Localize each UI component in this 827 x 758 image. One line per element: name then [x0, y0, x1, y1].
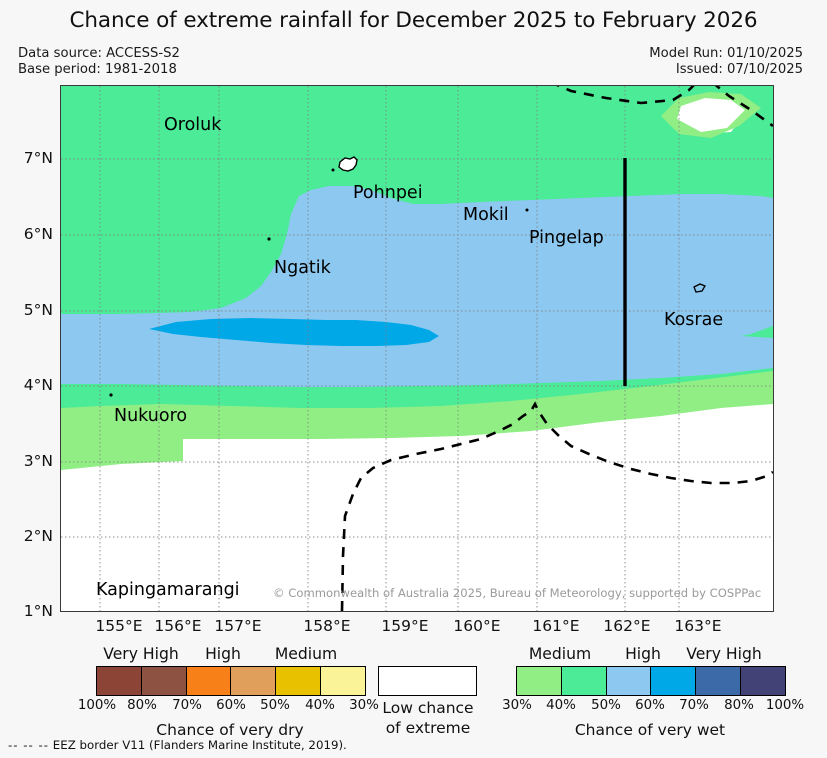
model-run-text: Model Run: 01/10/2025: [649, 46, 803, 62]
y-tick-5N: 5°N: [0, 301, 53, 319]
swatch-wet-60-70[interactable]: [650, 667, 695, 695]
data-source-text: Data source: ACCESS-S2: [18, 46, 180, 62]
legend-wet-cat-very-high: Very High: [664, 645, 784, 663]
eez-footnote: -- -- -- EEZ border V11 (Flanders Marine…: [8, 738, 347, 752]
legend-wet-tick-100: 100%: [755, 698, 815, 713]
swatch-wet-40-50[interactable]: [561, 667, 606, 695]
y-tick-4N: 4°N: [0, 376, 53, 394]
base-period-text: Base period: 1981-2018: [18, 62, 180, 78]
y-tick-6N: 6°N: [0, 225, 53, 243]
colorbar-very-wet[interactable]: [516, 666, 786, 696]
page-title: Chance of extreme rainfall for December …: [0, 8, 827, 33]
y-tick-7N: 7°N: [0, 149, 53, 167]
colorbar-very-dry[interactable]: [96, 666, 366, 696]
swatch-wet-70-80[interactable]: [695, 667, 740, 695]
eez-dash-sample: -- -- --: [8, 738, 49, 752]
map-contour-svg: [61, 86, 773, 611]
y-tick-3N: 3°N: [0, 452, 53, 470]
swatch-dry-50-40[interactable]: [275, 667, 320, 695]
x-tick-160E: 160°E: [432, 617, 522, 635]
mokil-marker: [332, 169, 335, 172]
swatch-dry-100-80[interactable]: [97, 667, 141, 695]
swatch-wet-30-40[interactable]: [517, 667, 561, 695]
pingelap-marker: [526, 209, 529, 212]
swatch-dry-80-70[interactable]: [141, 667, 186, 695]
swatch-low-chance[interactable]: [378, 666, 477, 696]
eez-footnote-text: EEZ border V11 (Flanders Marine Institut…: [53, 738, 347, 752]
metadata-right: Model Run: 01/10/2025 Issued: 07/10/2025: [649, 46, 803, 78]
issued-text: Issued: 07/10/2025: [649, 62, 803, 78]
swatch-dry-40-30[interactable]: [320, 667, 365, 695]
legend-wet-title: Chance of very wet: [550, 720, 750, 740]
nukuoro-marker: [109, 393, 112, 396]
metadata-left: Data source: ACCESS-S2 Base period: 1981…: [18, 46, 180, 78]
figure-root: Chance of extreme rainfall for December …: [0, 0, 827, 758]
ngatik-marker: [267, 237, 270, 240]
legend-dry-title: Chance of very dry: [130, 720, 330, 740]
swatch-wet-80-100[interactable]: [740, 667, 785, 695]
y-tick-1N: 1°N: [0, 602, 53, 620]
map-credit: © Commonwealth of Australia 2025, Bureau…: [273, 586, 761, 600]
swatch-wet-50-60[interactable]: [606, 667, 651, 695]
legend-low-chance-line2: of extreme: [328, 718, 528, 738]
y-tick-2N: 2°N: [0, 527, 53, 545]
swatch-dry-60-50[interactable]: [230, 667, 275, 695]
swatch-dry-70-60[interactable]: [186, 667, 231, 695]
legend-dry-cat-medium: Medium: [246, 645, 366, 663]
x-tick-163E: 163°E: [653, 617, 743, 635]
x-tick-158E: 158°E: [282, 617, 372, 635]
x-tick-157E: 157°E: [193, 617, 283, 635]
rainfall-map[interactable]: Oroluk Pohnpei Mokil Pingelap Ngatik Kos…: [60, 85, 774, 612]
